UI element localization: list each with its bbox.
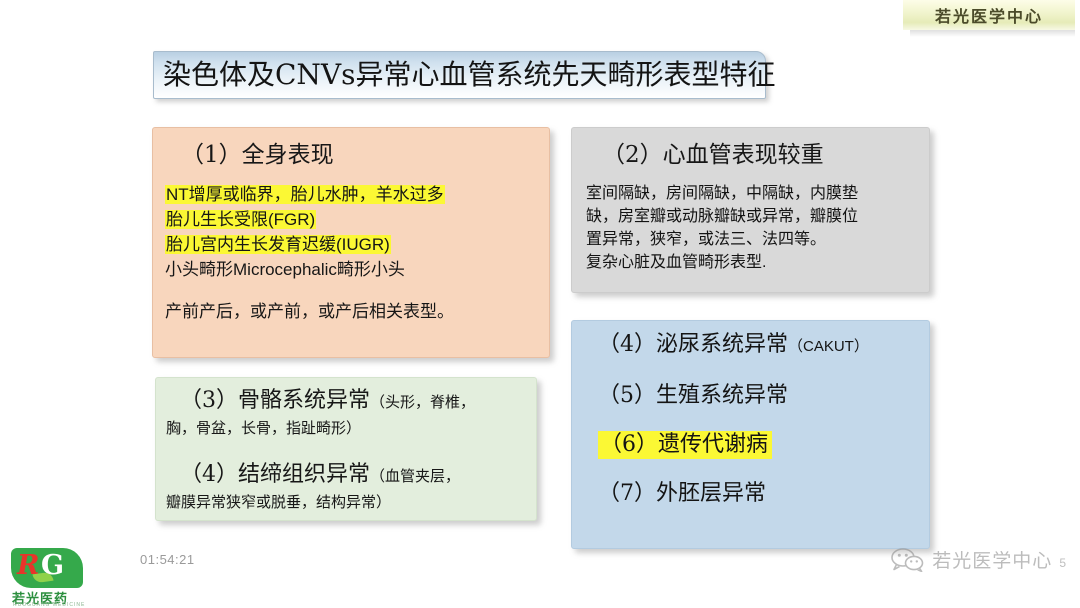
logo-company-subtitle: RUOGUANG MEDICINE: [13, 602, 85, 608]
highlighted-text: NT增厚或临界，胎儿水肿，羊水过多: [165, 185, 445, 204]
header-badge-shadow: [910, 30, 1075, 37]
box1-footer: 产前产后，或产前，或产后相关表型。: [165, 299, 537, 324]
header-center-badge: 若光医学中心: [903, 0, 1075, 30]
box2-heading: （2）心血管表现较重: [586, 138, 917, 172]
box1-spacer-2: [165, 282, 537, 299]
box1-spacer: [165, 172, 537, 182]
highlighted-text: 胎儿生长受限(FGR): [165, 210, 316, 229]
box1-line: 胎儿宫内生长发育迟缓(IUGR): [165, 232, 537, 257]
box3-heading-text: （3）骨骼系统异常: [180, 388, 370, 413]
box2-line: 置异常，狭窄，或法三、法四等。: [586, 228, 917, 251]
box2-line: 缺，房室瓣或动脉瓣缺或异常，瓣膜位: [586, 205, 917, 228]
box4-item-label: （7）外胚层异常: [598, 481, 766, 506]
box3-heading-note: （头形，脊椎，: [370, 394, 475, 411]
box3-item-continuation: 瓣膜异常狭窄或脱垂，结构异常）: [166, 492, 526, 514]
box1-heading: （1）全身表现: [165, 138, 537, 172]
box3-item-heading: （4）结缔组织异常（血管夹层，: [166, 460, 526, 492]
box4-list-item: （6）遗传代谢病: [586, 430, 917, 460]
header-center-badge-label: 若光医学中心: [935, 3, 1043, 27]
plain-text: 小头畸形Microcephalic畸形小头: [165, 260, 405, 279]
box3-item-continuation: 胸，骨盆，长骨，指趾畸形）: [166, 418, 526, 440]
box2-line: 室间隔缺，房间隔缺，中隔缺，内膜垫: [586, 182, 917, 205]
wechat-icon: [891, 548, 925, 572]
box1-line: NT增厚或临界，胎儿水肿，羊水过多: [165, 182, 537, 207]
page-number: 5: [1059, 556, 1066, 573]
box3-heading-note: （血管夹层，: [370, 468, 460, 485]
box4-list-item: （7）外胚层异常: [586, 479, 917, 509]
company-logo: R G 若光医药 RUOGUANG MEDICINE: [7, 546, 87, 608]
box1-footer-text: 产前产后，或产前，或产后相关表型。: [165, 299, 537, 324]
wechat-watermark: 若光医学中心 5: [891, 546, 1066, 573]
box1-body: NT增厚或临界，胎儿水肿，羊水过多 胎儿生长受限(FGR) 胎儿宫内生长发育迟缓…: [165, 182, 537, 282]
slide-title-box: 染色体及CNVs异常心血管系统先天畸形表型特征: [153, 51, 766, 99]
box4-item-label: （4）泌尿系统异常: [598, 332, 788, 357]
box3-spacer: [166, 440, 526, 460]
box1-line: 小头畸形Microcephalic畸形小头: [165, 257, 537, 282]
content-box-other-systems: （4）泌尿系统异常（CAKUT） （5）生殖系统异常 （6）遗传代谢病 （7）外…: [571, 320, 930, 549]
box4-list-item: （5）生殖系统异常: [586, 381, 917, 411]
content-box-cardiovascular: （2）心血管表现较重 室间隔缺，房间隔缺，中隔缺，内膜垫 缺，房室瓣或动脉瓣缺或…: [571, 127, 930, 293]
box3-item-heading: （3）骨骼系统异常（头形，脊椎，: [166, 386, 526, 418]
box1-line: 胎儿生长受限(FGR): [165, 207, 537, 232]
timestamp: 01:54:21: [140, 552, 195, 567]
slide-title: 染色体及CNVs异常心血管系统先天畸形表型特征: [163, 60, 776, 90]
box4-list-item: （4）泌尿系统异常（CAKUT）: [586, 330, 917, 362]
highlighted-text: 胎儿宫内生长发育迟缓(IUGR): [165, 235, 391, 254]
box2-body: 室间隔缺，房间隔缺，中隔缺，内膜垫 缺，房室瓣或动脉瓣缺或异常，瓣膜位 置异常，…: [586, 182, 917, 274]
box4-item-label: （5）生殖系统异常: [598, 383, 788, 408]
content-box-skeletal-connective: （3）骨骼系统异常（头形，脊椎， 胸，骨盆，长骨，指趾畸形） （4）结缔组织异常…: [155, 377, 537, 521]
box4-item-note: （CAKUT）: [788, 338, 869, 355]
content-box-general-manifestations: （1）全身表现 NT增厚或临界，胎儿水肿，羊水过多 胎儿生长受限(FGR) 胎儿…: [152, 127, 550, 358]
box3-heading-text: （4）结缔组织异常: [180, 462, 370, 487]
box2-line: 复杂心脏及血管畸形表型.: [586, 251, 917, 274]
watermark-text: 若光医学中心: [932, 546, 1052, 573]
box4-item-label-highlighted: （6）遗传代谢病: [598, 431, 772, 459]
